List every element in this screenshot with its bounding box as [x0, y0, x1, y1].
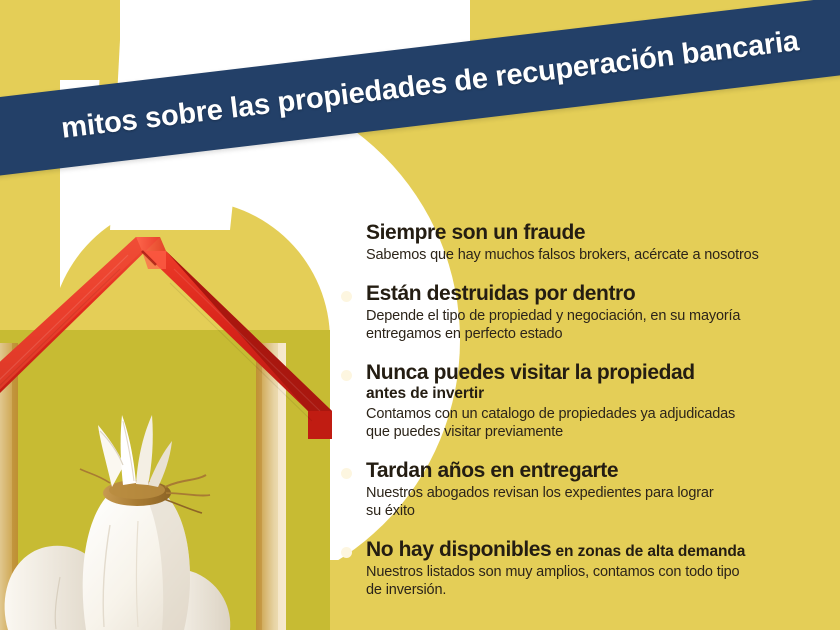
house-illustration [0, 225, 360, 630]
house-post-right [256, 343, 286, 630]
myth-item-3: Nunca puedes visitar la propiedad antes … [340, 362, 836, 442]
myth-title-5-main: No hay disponibles [366, 538, 551, 561]
myth-item-5: No hay disponibles en zonas de alta dema… [340, 539, 836, 600]
myth-title-3: Nunca puedes visitar la propiedad [366, 362, 836, 384]
bullet-icon [341, 291, 352, 302]
myth-subtitle-3: antes de invertir [366, 385, 836, 403]
bullet-icon [341, 547, 352, 558]
money-bags [5, 415, 231, 630]
infographic-poster: mitos sobre las propiedades de recuperac… [0, 0, 840, 630]
myth-title-1: Siempre son un fraude [366, 222, 836, 244]
myth-item-4: Tardan años en entregarte Nuestros aboga… [340, 460, 836, 521]
myth-body-1: Sabemos que hay muchos falsos brokers, a… [366, 246, 836, 264]
bullet-icon [341, 370, 352, 381]
myth-title-5: No hay disponibles en zonas de alta dema… [366, 539, 836, 561]
myth-title-5-suffix: en zonas de alta demanda [551, 543, 745, 560]
myth-title-2: Están destruidas por dentro [366, 283, 836, 305]
myth-body-5: Nuestros listados son muy amplios, conta… [366, 563, 836, 600]
myth-body-4: Nuestros abogados revisan los expediente… [366, 484, 836, 521]
myth-item-1: Siempre son un fraude Sabemos que hay mu… [340, 222, 836, 265]
myth-item-2: Están destruidas por dentro Depende el t… [340, 283, 836, 344]
bullet-icon [341, 468, 352, 479]
myth-body-2: Depende el tipo de propiedad y negociaci… [366, 307, 836, 344]
myth-body-3: Contamos con un catalogo de propiedades … [366, 405, 836, 442]
myth-list: Siempre son un fraude Sabemos que hay mu… [340, 222, 836, 600]
myth-title-4: Tardan años en entregarte [366, 460, 836, 482]
